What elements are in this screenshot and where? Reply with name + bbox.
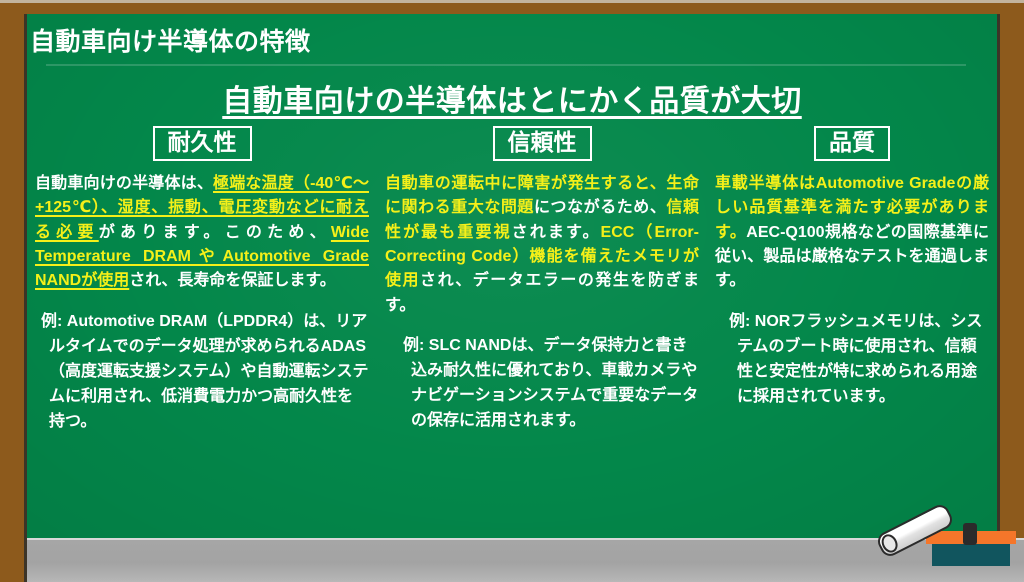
- columns-container: 耐久性 自動車向けの半導体は、極端な温度（-40℃〜+125℃）、湿度、振動、電…: [27, 126, 997, 536]
- board-frame-left: [0, 0, 26, 582]
- column-heading-wrap-3: 品質: [715, 126, 989, 161]
- chalk-ledge: [27, 540, 1024, 582]
- board-frame-right: [998, 0, 1024, 582]
- page-title: 自動車向け半導体の特徴: [30, 22, 930, 58]
- column-heading-3: 品質: [814, 126, 890, 161]
- board-frame-right-edge: [997, 10, 1000, 582]
- text-run-3: があります。このため、: [99, 224, 331, 241]
- text-run-2: につながるため、: [534, 199, 666, 216]
- column-example-1: 例: Automotive DRAM（LPDDR4）は、リアルタイムでのデータ処…: [35, 310, 369, 435]
- slide-root: 自動車向け半導体の特徴 自動車向けの半導体はとにかく品質が大切 耐久性 自動車向…: [0, 0, 1024, 582]
- column-body-3: 車載半導体はAutomotive Gradeの厳しい品質基準を満たす必要がありま…: [715, 172, 989, 294]
- header-divider: [46, 64, 966, 66]
- column-example-2: 例: SLC NANDは、データ保持力と書き込み耐久性に優れており、車載カメラや…: [385, 334, 699, 434]
- text-run-4: されます。: [512, 224, 601, 241]
- text-run-1: 自動車向けの半導体は、: [35, 175, 213, 192]
- board-frame-top-highlight: [0, 0, 1024, 3]
- text-run-6: され、データエラーの発生を防ぎます。: [385, 272, 699, 313]
- slide-header: 自動車向け半導体の特徴: [30, 22, 930, 58]
- main-headline: 自動車向けの半導体はとにかく品質が大切: [27, 76, 997, 120]
- column-body-2: 自動車の運転中に障害が発生すると、生命に関わる重大な問題につながるため、信頼性が…: [385, 172, 699, 318]
- column-heading-1: 耐久性: [153, 126, 252, 161]
- blackboard-eraser-knob: [963, 523, 977, 545]
- chalk-stick-tip: [879, 532, 901, 556]
- column-reliability: 信頼性 自動車の運転中に障害が発生すると、生命に関わる重大な問題につながるため、…: [377, 126, 707, 536]
- column-durability: 耐久性 自動車向けの半導体は、極端な温度（-40℃〜+125℃）、湿度、振動、電…: [27, 126, 377, 536]
- column-body-1: 自動車向けの半導体は、極端な温度（-40℃〜+125℃）、湿度、振動、電圧変動な…: [35, 172, 369, 294]
- column-example-3: 例: NORフラッシュメモリは、システムのブート時に使用され、信頼性と安定性が特…: [715, 310, 989, 410]
- text-run-5: され、長寿命を保証します。: [129, 272, 336, 289]
- column-heading-wrap-1: 耐久性: [35, 126, 369, 161]
- column-quality: 品質 車載半導体はAutomotive Gradeの厳しい品質基準を満たす必要が…: [707, 126, 997, 536]
- column-heading-2: 信頼性: [493, 126, 592, 161]
- text-run-2: AEC-Q100規格などの国際基準に従い、製品は厳格なテストを通過します。: [715, 224, 989, 290]
- column-heading-wrap-2: 信頼性: [385, 126, 699, 161]
